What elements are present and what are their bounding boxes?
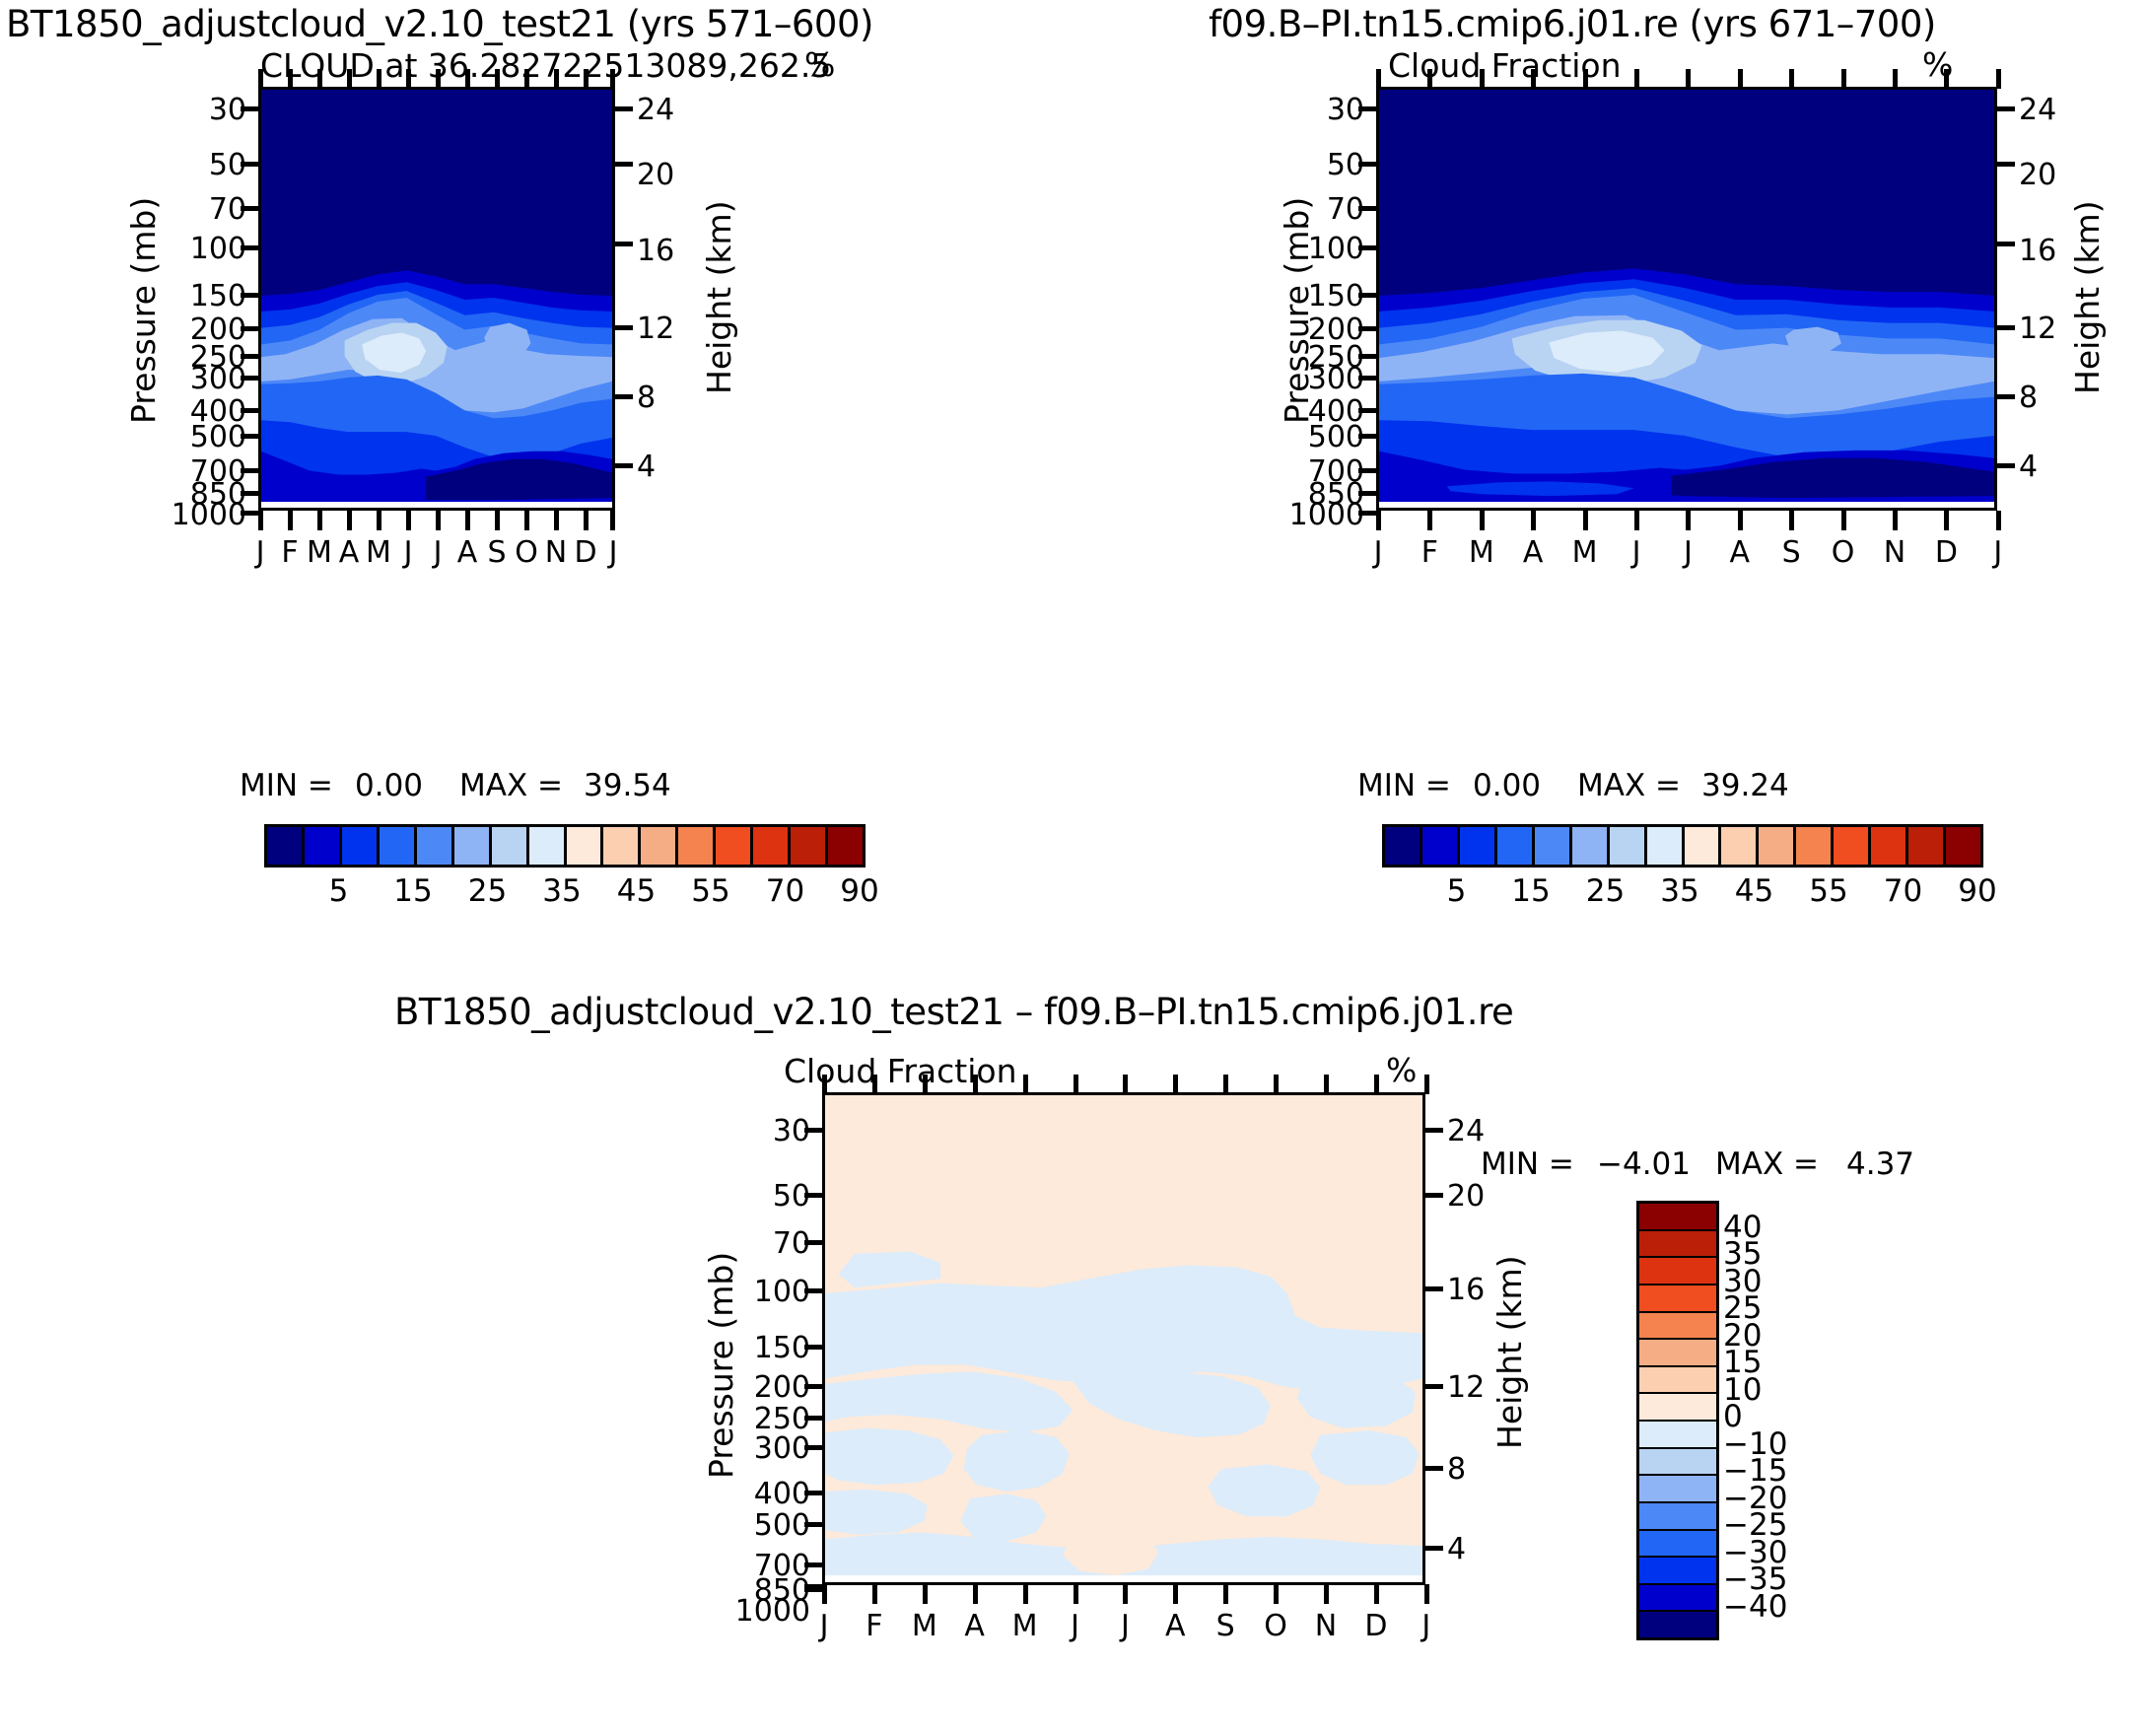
colorbar-swatch bbox=[529, 827, 567, 865]
top-tick bbox=[1893, 69, 1898, 89]
ytick-100: 100 bbox=[702, 1275, 810, 1309]
ytick-150: 150 bbox=[1256, 279, 1364, 313]
bottom-tick bbox=[1531, 511, 1536, 530]
bottom-tick bbox=[1274, 1584, 1279, 1604]
ytick-mark bbox=[1358, 326, 1376, 331]
panel-right-title: f09.B–PI.tn15.cmip6.j01.re (yrs 671–700) bbox=[1209, 3, 1936, 45]
month-label: M bbox=[1570, 535, 1600, 570]
bottom-tick bbox=[1173, 1584, 1178, 1604]
htick-16: 16 bbox=[1447, 1273, 1506, 1307]
top-tick bbox=[1023, 1075, 1028, 1094]
bottom-tick bbox=[524, 511, 529, 530]
bottom-tick bbox=[554, 511, 559, 530]
colorbar-swatch bbox=[1834, 827, 1871, 865]
ytick-30: 30 bbox=[712, 1114, 810, 1148]
htick-12: 12 bbox=[1447, 1370, 1506, 1405]
ytick-mark bbox=[241, 468, 258, 473]
colorbar-level-label: 55 bbox=[1799, 873, 1858, 909]
htick-4: 4 bbox=[2019, 450, 2078, 484]
colorbar-swatch bbox=[267, 827, 305, 865]
panel-right-max-label: MAX = bbox=[1577, 768, 1681, 803]
ytick-150: 150 bbox=[702, 1331, 810, 1365]
panel-right-min-value: 0.00 bbox=[1473, 768, 1541, 803]
month-label: J bbox=[423, 535, 452, 570]
top-tick bbox=[554, 69, 559, 89]
colorbar-level-label: 70 bbox=[1874, 873, 1933, 909]
panel-diff-max-value: 4.37 bbox=[1846, 1146, 1914, 1182]
colorbar-swatch bbox=[603, 827, 641, 865]
ytick-mark bbox=[241, 326, 258, 331]
colorbar-swatch bbox=[1871, 827, 1908, 865]
ytick-100: 100 bbox=[138, 232, 246, 266]
ytick-mark bbox=[241, 408, 258, 413]
bottom-tick bbox=[1480, 511, 1485, 530]
htick-8: 8 bbox=[2019, 381, 2078, 415]
panel-diff-colorbar bbox=[1636, 1201, 1719, 1640]
colorbar-level-label: −40 bbox=[1723, 1589, 1812, 1625]
colorbar-level-label: 45 bbox=[607, 873, 666, 909]
ytick-mark bbox=[241, 162, 258, 167]
month-label: N bbox=[541, 535, 571, 570]
ytick-mark bbox=[1358, 434, 1376, 439]
month-label: J bbox=[1983, 535, 2013, 570]
month-label: J bbox=[1110, 1609, 1140, 1643]
ytick-400: 400 bbox=[702, 1477, 810, 1511]
colorbar-swatch bbox=[828, 827, 863, 865]
panel-diff-min-label: MIN = bbox=[1481, 1146, 1574, 1182]
panel-diff-title: BT1850_adjustcloud_v2.10_test21 – f09.B–… bbox=[394, 991, 1513, 1033]
top-tick bbox=[406, 69, 411, 89]
bottom-tick bbox=[973, 1584, 978, 1604]
top-tick bbox=[1427, 69, 1432, 89]
top-tick bbox=[1123, 1075, 1128, 1094]
ytick-mark bbox=[804, 1445, 822, 1450]
colorbar-swatch bbox=[1639, 1449, 1716, 1477]
bottom-tick bbox=[288, 511, 293, 530]
bottom-tick bbox=[1789, 511, 1794, 530]
ytick-mark bbox=[1358, 162, 1376, 167]
month-label: A bbox=[1518, 535, 1548, 570]
bottom-tick bbox=[1223, 1584, 1228, 1604]
colorbar-swatch bbox=[1639, 1476, 1716, 1503]
ytick-mark bbox=[804, 1288, 822, 1293]
ytick-50: 50 bbox=[712, 1179, 810, 1214]
colorbar-swatch bbox=[1647, 827, 1685, 865]
ytick-mark bbox=[1358, 245, 1376, 250]
ytick-1000: 1000 bbox=[1244, 498, 1364, 532]
bottom-tick bbox=[495, 511, 500, 530]
colorbar-swatch bbox=[1497, 827, 1535, 865]
month-label: A bbox=[960, 1609, 990, 1643]
colorbar-swatch bbox=[716, 827, 753, 865]
month-label: N bbox=[1311, 1609, 1341, 1643]
htick-24: 24 bbox=[2019, 93, 2078, 127]
ytick-70: 70 bbox=[148, 192, 246, 227]
colorbar-swatch bbox=[1535, 827, 1572, 865]
bottom-tick bbox=[1074, 1584, 1078, 1604]
panel-diff-max-label: MAX = bbox=[1715, 1146, 1819, 1182]
panel-left-plot-area bbox=[258, 87, 615, 511]
top-tick bbox=[973, 1075, 978, 1094]
colorbar-level-label: 70 bbox=[756, 873, 815, 909]
top-tick bbox=[822, 1075, 827, 1094]
ytick-mark bbox=[1358, 106, 1376, 111]
panel-left-min-value: 0.00 bbox=[355, 768, 423, 803]
top-tick bbox=[524, 69, 529, 89]
top-tick bbox=[872, 1075, 877, 1094]
bottom-tick bbox=[1996, 511, 2001, 530]
month-label: J bbox=[393, 535, 423, 570]
colorbar-swatch bbox=[1572, 827, 1610, 865]
colorbar-swatch bbox=[1639, 1422, 1716, 1449]
top-tick bbox=[1634, 69, 1639, 89]
top-tick bbox=[436, 69, 441, 89]
colorbar-swatch bbox=[1639, 1313, 1716, 1341]
month-label: N bbox=[1880, 535, 1909, 570]
ytick-mark bbox=[1425, 1193, 1443, 1198]
ytick-30: 30 bbox=[1266, 93, 1364, 127]
ytick-mark bbox=[1997, 242, 2015, 246]
month-label: M bbox=[910, 1609, 939, 1643]
top-tick bbox=[1374, 1075, 1379, 1094]
month-label: J bbox=[245, 535, 275, 570]
month-label: O bbox=[512, 535, 541, 570]
ytick-mark bbox=[1425, 1286, 1443, 1291]
colorbar-level-label: 5 bbox=[1427, 873, 1487, 909]
colorbar-swatch bbox=[342, 827, 380, 865]
month-label: M bbox=[1467, 535, 1496, 570]
bottom-tick bbox=[1738, 511, 1743, 530]
bottom-tick bbox=[1634, 511, 1639, 530]
ytick-1000: 1000 bbox=[126, 498, 246, 532]
htick-16: 16 bbox=[637, 234, 696, 268]
colorbar-swatch bbox=[1685, 827, 1722, 865]
bottom-tick bbox=[1376, 511, 1381, 530]
month-label: S bbox=[1776, 535, 1806, 570]
panel-diff-units: % bbox=[1386, 1051, 1417, 1089]
bottom-tick bbox=[872, 1584, 877, 1604]
colorbar-level-label: 55 bbox=[681, 873, 740, 909]
ytick-mark bbox=[804, 1584, 822, 1589]
ytick-mark bbox=[804, 1240, 822, 1245]
ytick-300: 300 bbox=[702, 1431, 810, 1466]
month-label: O bbox=[1261, 1609, 1290, 1643]
ytick-mark bbox=[804, 1416, 822, 1421]
panel-left-colorbar bbox=[264, 824, 866, 868]
ytick-mark bbox=[241, 245, 258, 250]
htick-8: 8 bbox=[637, 381, 696, 415]
month-label: A bbox=[452, 535, 482, 570]
top-tick bbox=[1376, 69, 1381, 89]
top-tick bbox=[1789, 69, 1794, 89]
panel-left-min-label: MIN = bbox=[240, 768, 333, 803]
colorbar-level-label: 35 bbox=[1650, 873, 1709, 909]
htick-20: 20 bbox=[637, 158, 696, 192]
colorbar-swatch bbox=[791, 827, 828, 865]
top-tick bbox=[584, 69, 589, 89]
colorbar-swatch bbox=[305, 827, 342, 865]
ytick-mark bbox=[615, 325, 633, 330]
ytick-mark bbox=[804, 1491, 822, 1495]
panel-left-max-label: MAX = bbox=[459, 768, 563, 803]
colorbar-swatch bbox=[1639, 1503, 1716, 1531]
month-label: J bbox=[1673, 535, 1702, 570]
bottom-tick bbox=[822, 1584, 827, 1604]
colorbar-swatch bbox=[1639, 1531, 1716, 1559]
ytick-mark bbox=[1358, 468, 1376, 473]
top-tick bbox=[1531, 69, 1536, 89]
month-label: A bbox=[334, 535, 364, 570]
top-tick bbox=[1274, 1075, 1279, 1094]
ytick-mark bbox=[1358, 354, 1376, 359]
panel-right-colorbar bbox=[1382, 824, 1983, 868]
bottom-tick bbox=[1427, 511, 1432, 530]
month-label: J bbox=[1412, 1609, 1441, 1643]
month-label: M bbox=[305, 535, 334, 570]
top-tick bbox=[495, 69, 500, 89]
ytick-mark bbox=[804, 1562, 822, 1567]
ytick-200: 200 bbox=[702, 1370, 810, 1405]
month-label: O bbox=[1829, 535, 1858, 570]
bottom-tick bbox=[1686, 511, 1691, 530]
month-label: S bbox=[1211, 1609, 1240, 1643]
ytick-mark bbox=[1997, 106, 2015, 111]
htick-4: 4 bbox=[1447, 1532, 1506, 1566]
top-tick bbox=[1583, 69, 1588, 89]
top-tick bbox=[610, 69, 615, 89]
colorbar-level-label: 15 bbox=[1501, 873, 1560, 909]
ytick-70: 70 bbox=[1266, 192, 1364, 227]
ytick-mark bbox=[615, 394, 633, 399]
top-tick bbox=[1223, 1075, 1228, 1094]
top-tick bbox=[1841, 69, 1846, 89]
ytick-150: 150 bbox=[138, 279, 246, 313]
top-tick bbox=[347, 69, 352, 89]
panel-left-subtitle: CLOUD at 36.282722513089,262.5 bbox=[260, 46, 831, 85]
ytick-300: 300 bbox=[1256, 362, 1364, 396]
ytick-mark bbox=[804, 1522, 822, 1527]
htick-12: 12 bbox=[2019, 312, 2078, 346]
ytick-mark bbox=[1358, 206, 1376, 211]
ytick-mark bbox=[1358, 511, 1376, 516]
top-tick bbox=[1738, 69, 1743, 89]
colorbar-level-label: 15 bbox=[383, 873, 443, 909]
colorbar-swatch bbox=[380, 827, 417, 865]
colorbar-level-label: 5 bbox=[310, 873, 369, 909]
ytick-mark bbox=[1425, 1384, 1443, 1389]
ytick-mark bbox=[241, 293, 258, 298]
month-label: D bbox=[1931, 535, 1961, 570]
colorbar-level-label: 90 bbox=[1948, 873, 2007, 909]
colorbar-swatch bbox=[1639, 1285, 1716, 1313]
bottom-tick bbox=[347, 511, 352, 530]
colorbar-level-label: 35 bbox=[532, 873, 591, 909]
colorbar-swatch bbox=[1639, 1558, 1716, 1585]
ytick-mark bbox=[804, 1193, 822, 1198]
bottom-tick bbox=[1424, 1584, 1429, 1604]
ytick-mark bbox=[615, 162, 633, 167]
month-label: F bbox=[1415, 535, 1444, 570]
htick-12: 12 bbox=[637, 312, 696, 346]
bottom-tick bbox=[258, 511, 263, 530]
colorbar-swatch bbox=[1610, 827, 1647, 865]
ytick-500: 500 bbox=[138, 420, 246, 454]
ytick-50: 50 bbox=[148, 148, 246, 182]
ytick-mark bbox=[1425, 1466, 1443, 1471]
panel-diff-subtitle: Cloud Fraction bbox=[784, 1052, 1016, 1090]
ytick-mark bbox=[241, 491, 258, 496]
top-tick bbox=[1424, 1075, 1429, 1094]
panel-left-max-value: 39.54 bbox=[584, 768, 671, 803]
top-tick bbox=[1324, 1075, 1329, 1094]
colorbar-level-label: 45 bbox=[1725, 873, 1784, 909]
colorbar-swatch bbox=[1908, 827, 1946, 865]
top-tick bbox=[1173, 1075, 1178, 1094]
month-label: J bbox=[1061, 1609, 1090, 1643]
panel-left-title: BT1850_adjustcloud_v2.10_test21 (yrs 571… bbox=[6, 3, 873, 45]
colorbar-level-label: 90 bbox=[830, 873, 889, 909]
ytick-100: 100 bbox=[1256, 232, 1364, 266]
ytick-mark bbox=[1997, 463, 2015, 468]
colorbar-swatch bbox=[1639, 1258, 1716, 1285]
top-tick bbox=[258, 69, 263, 89]
panel-right-ylabel-height: Height (km) bbox=[2068, 200, 2107, 394]
colorbar-swatch bbox=[1385, 827, 1422, 865]
ytick-mark bbox=[1358, 408, 1376, 413]
ytick-mark bbox=[1358, 376, 1376, 381]
ytick-mark bbox=[615, 242, 633, 246]
top-tick bbox=[377, 69, 381, 89]
colorbar-swatch bbox=[678, 827, 716, 865]
bottom-tick bbox=[1893, 511, 1898, 530]
colorbar-swatch bbox=[1946, 827, 1980, 865]
panel-right-max-value: 39.24 bbox=[1701, 768, 1789, 803]
ytick-mark bbox=[1425, 1128, 1443, 1133]
colorbar-swatch bbox=[1639, 1612, 1716, 1637]
panel-diff-min-value: −4.01 bbox=[1597, 1146, 1691, 1182]
htick-24: 24 bbox=[1447, 1114, 1506, 1148]
top-tick bbox=[923, 1075, 928, 1094]
colorbar-level-label: 25 bbox=[458, 873, 518, 909]
htick-20: 20 bbox=[2019, 158, 2078, 192]
month-label: J bbox=[598, 535, 628, 570]
panel-diff-plot-area bbox=[822, 1092, 1425, 1585]
colorbar-swatch bbox=[1639, 1585, 1716, 1613]
month-label: S bbox=[482, 535, 512, 570]
colorbar-swatch bbox=[1639, 1367, 1716, 1395]
ytick-mark bbox=[1358, 293, 1376, 298]
htick-24: 24 bbox=[637, 93, 696, 127]
bottom-tick bbox=[1324, 1584, 1329, 1604]
colorbar-swatch bbox=[641, 827, 678, 865]
top-tick bbox=[465, 69, 470, 89]
ytick-70: 70 bbox=[712, 1226, 810, 1261]
ytick-mark bbox=[241, 206, 258, 211]
bottom-tick bbox=[436, 511, 441, 530]
ytick-mark bbox=[241, 511, 258, 516]
ytick-500: 500 bbox=[1256, 420, 1364, 454]
ytick-500: 500 bbox=[702, 1508, 810, 1543]
colorbar-swatch bbox=[753, 827, 791, 865]
ytick-mark bbox=[241, 434, 258, 439]
panel-left-units: % bbox=[804, 45, 835, 84]
top-tick bbox=[1686, 69, 1691, 89]
bottom-tick bbox=[1023, 1584, 1028, 1604]
ytick-mark bbox=[615, 106, 633, 111]
bottom-tick bbox=[1123, 1584, 1128, 1604]
colorbar-swatch bbox=[1422, 827, 1460, 865]
ytick-mark bbox=[615, 463, 633, 468]
panel-left-ylabel-height: Height (km) bbox=[700, 200, 738, 394]
month-label: M bbox=[1010, 1609, 1040, 1643]
ytick-mark bbox=[804, 1128, 822, 1133]
bottom-tick bbox=[1583, 511, 1588, 530]
top-tick bbox=[317, 69, 322, 89]
colorbar-level-label: 25 bbox=[1576, 873, 1635, 909]
bottom-tick bbox=[317, 511, 322, 530]
colorbar-swatch bbox=[1460, 827, 1497, 865]
htick-16: 16 bbox=[2019, 234, 2078, 268]
ytick-mark bbox=[1425, 1546, 1443, 1551]
htick-20: 20 bbox=[1447, 1179, 1506, 1214]
colorbar-swatch bbox=[1639, 1340, 1716, 1367]
colorbar-swatch bbox=[1721, 827, 1759, 865]
bottom-tick bbox=[406, 511, 411, 530]
month-label: J bbox=[1363, 535, 1393, 570]
bottom-tick bbox=[465, 511, 470, 530]
ytick-mark bbox=[241, 106, 258, 111]
ytick-1000: 1000 bbox=[690, 1594, 810, 1629]
top-tick bbox=[1996, 69, 2001, 89]
month-label: M bbox=[364, 535, 393, 570]
ytick-mark bbox=[804, 1345, 822, 1350]
ytick-mark bbox=[1997, 325, 2015, 330]
bottom-tick bbox=[1944, 511, 1949, 530]
top-tick bbox=[1480, 69, 1485, 89]
bottom-tick bbox=[1841, 511, 1846, 530]
panel-right-plot-area bbox=[1376, 87, 1997, 511]
month-label: D bbox=[1361, 1609, 1391, 1643]
htick-8: 8 bbox=[1447, 1452, 1506, 1487]
colorbar-swatch bbox=[1796, 827, 1834, 865]
bottom-tick bbox=[923, 1584, 928, 1604]
bottom-tick bbox=[584, 511, 589, 530]
bottom-tick bbox=[610, 511, 615, 530]
ytick-mark bbox=[804, 1384, 822, 1389]
ytick-mark bbox=[241, 376, 258, 381]
bottom-tick bbox=[377, 511, 381, 530]
colorbar-swatch bbox=[1639, 1204, 1716, 1231]
month-label: D bbox=[571, 535, 600, 570]
ytick-mark bbox=[1997, 162, 2015, 167]
ytick-mark bbox=[1358, 491, 1376, 496]
ytick-mark bbox=[1997, 394, 2015, 399]
top-tick bbox=[1944, 69, 1949, 89]
colorbar-swatch bbox=[567, 827, 604, 865]
colorbar-swatch bbox=[492, 827, 529, 865]
ytick-mark bbox=[241, 354, 258, 359]
bottom-tick bbox=[1374, 1584, 1379, 1604]
colorbar-swatch bbox=[1639, 1394, 1716, 1422]
month-label: F bbox=[860, 1609, 889, 1643]
ytick-30: 30 bbox=[148, 93, 246, 127]
top-tick bbox=[1074, 1075, 1078, 1094]
ytick-300: 300 bbox=[138, 362, 246, 396]
colorbar-swatch bbox=[417, 827, 454, 865]
month-label: J bbox=[809, 1609, 839, 1643]
month-label: F bbox=[275, 535, 305, 570]
month-label: J bbox=[1622, 535, 1651, 570]
